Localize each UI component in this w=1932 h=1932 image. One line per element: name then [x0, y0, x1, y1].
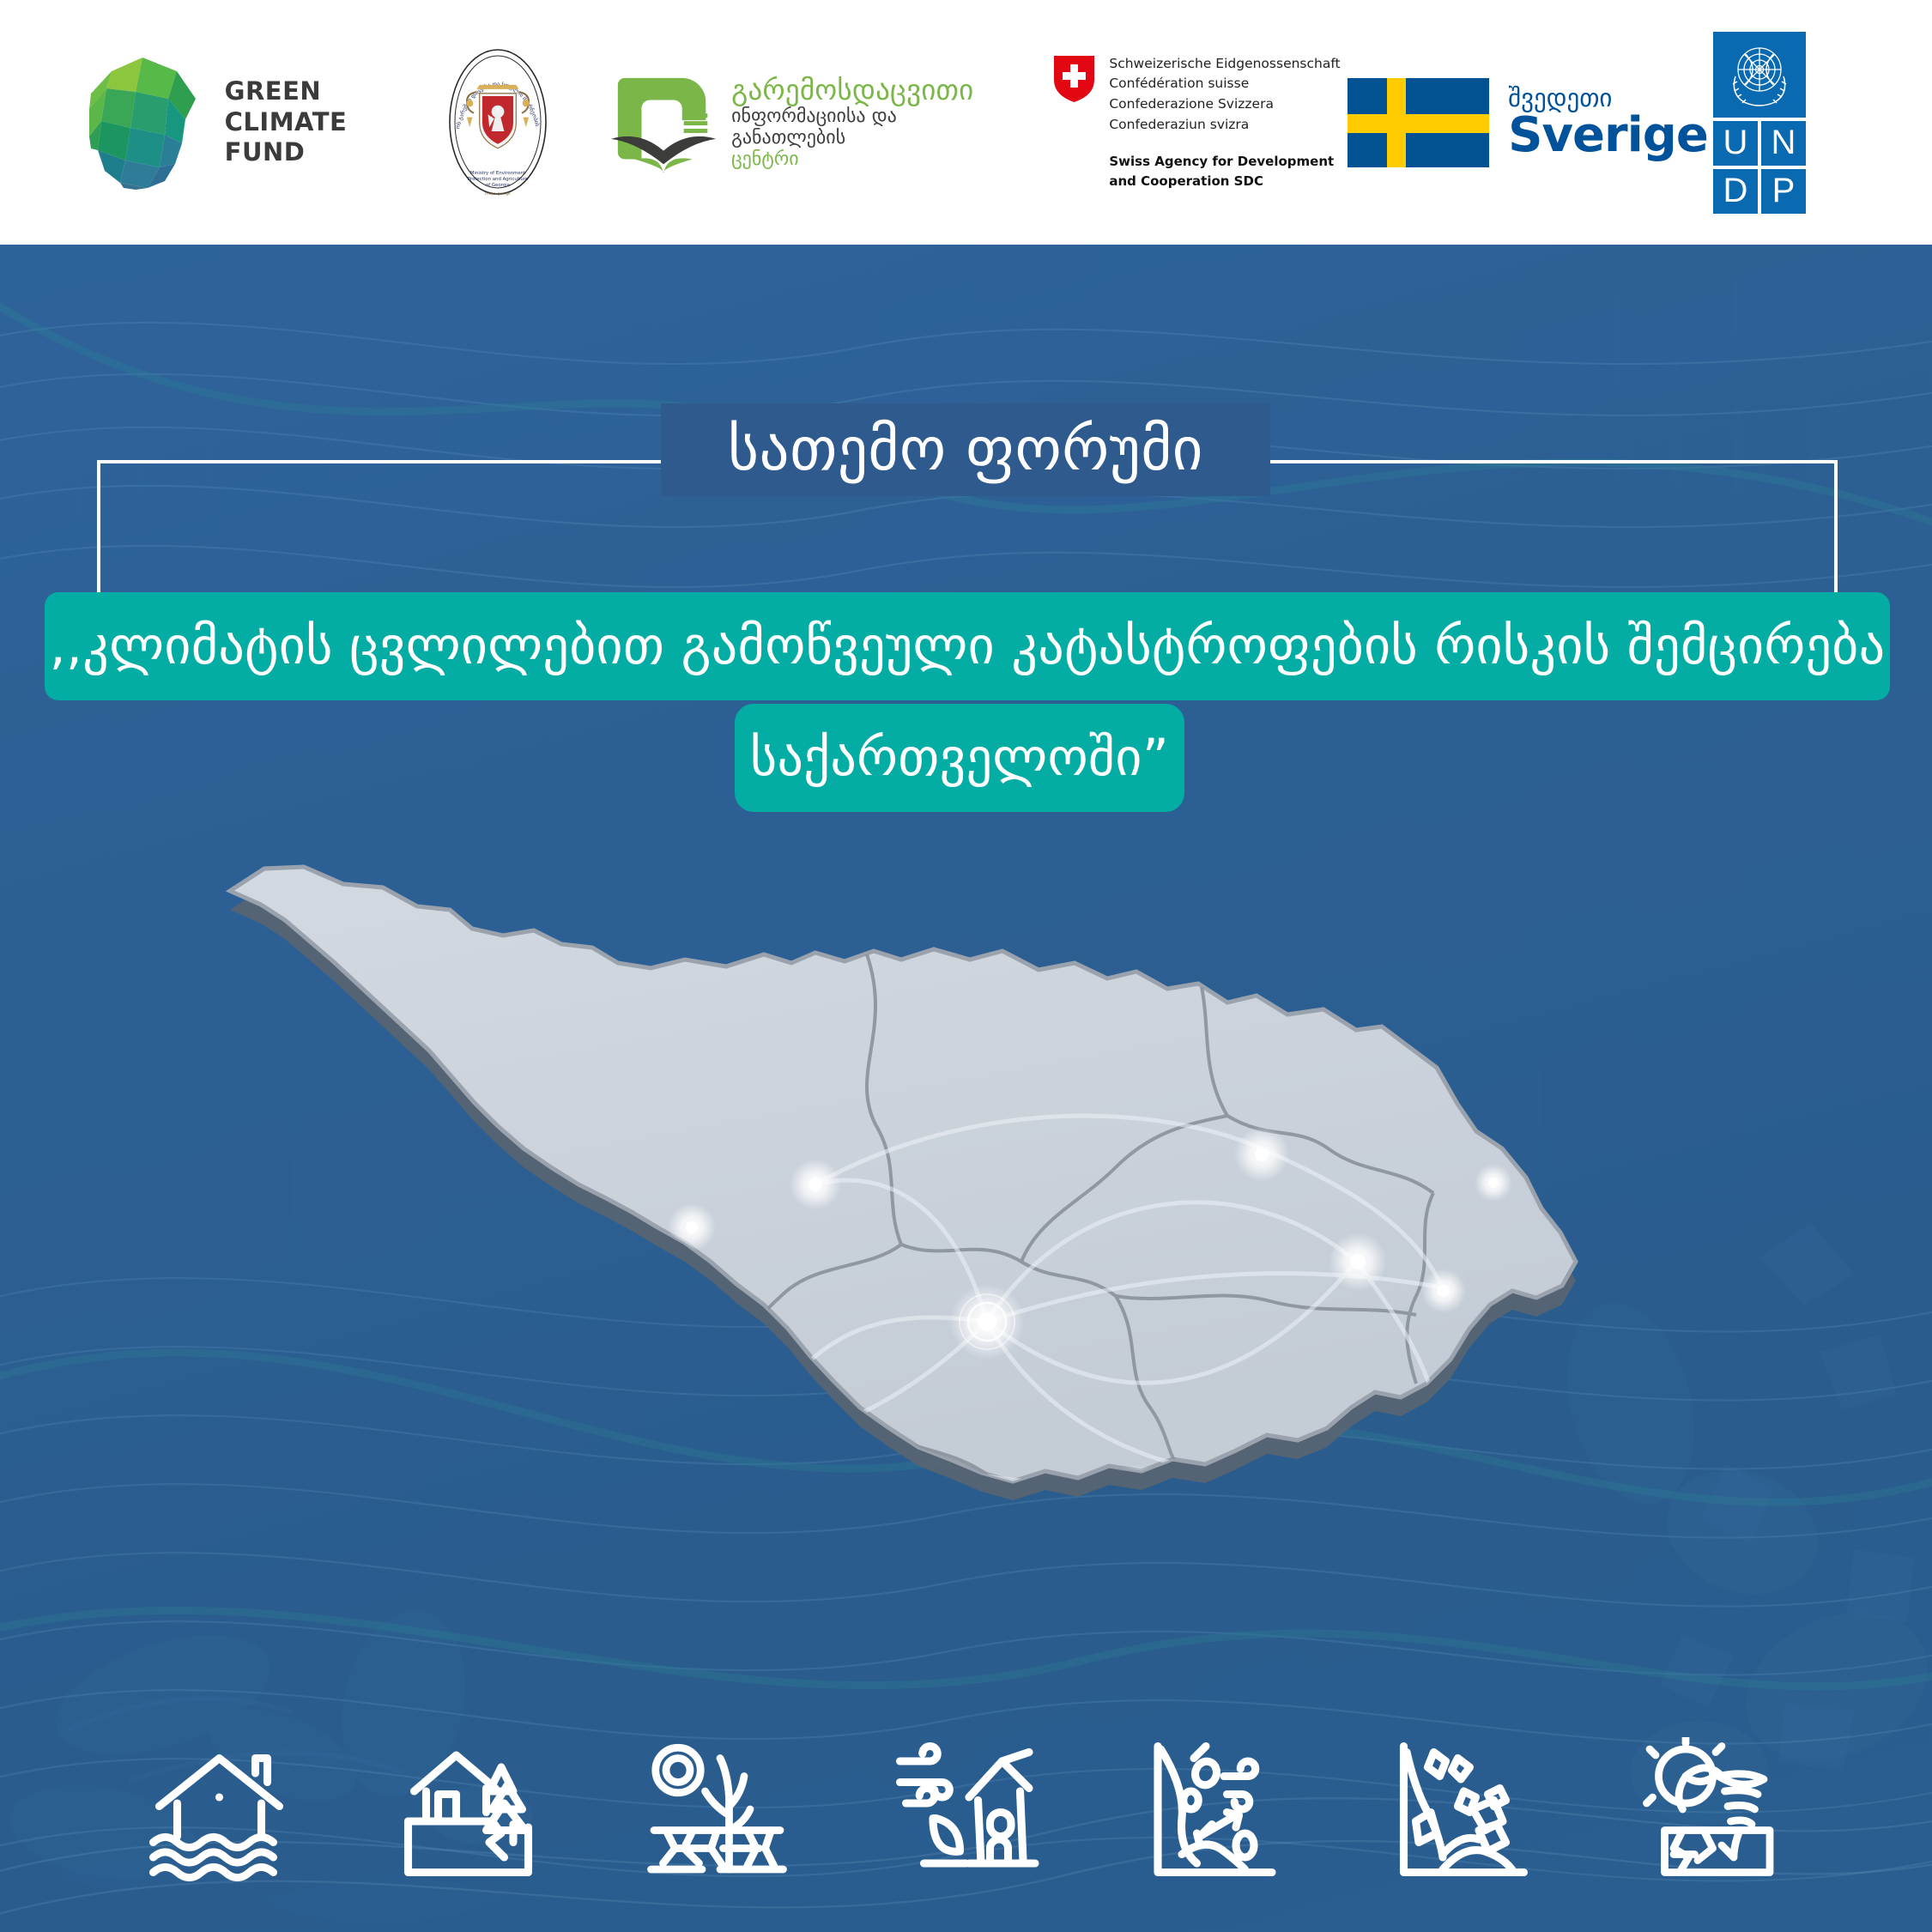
sdc-agency-line-2: and Cooperation SDC [1109, 172, 1340, 191]
georgia-state-seal-icon: საქართველოს გარემოს დაცვისა და სოფლის მე… [425, 47, 571, 197]
logo-sweden: შვედეთი Sverige [1360, 37, 1695, 209]
sdc-agency-line-1: Swiss Agency for Development [1109, 152, 1340, 172]
rockfall-slope-icon [1389, 1737, 1539, 1887]
avalanche-slope-icon [1140, 1737, 1290, 1887]
open-book-leaf-icon [609, 71, 719, 174]
logo-environmental-info-education-centre: გარემოსდაცვითი ინფორმაციისა და განათლები… [609, 37, 1013, 209]
gcf-polyhedron-icon [82, 54, 203, 191]
seal-sub-3: of Georgia [486, 183, 510, 188]
logo-ministry-of-environment: საქართველოს გარემოს დაცვისა და სოფლის მე… [399, 37, 597, 209]
sweden-label-sv: Sverige [1508, 112, 1708, 158]
un-emblem-icon [1713, 32, 1806, 118]
map-node [731, 1401, 779, 1449]
map-node [1234, 1127, 1289, 1182]
logo-undp: U N D P [1704, 37, 1815, 209]
eiec-line-1: გარემოსდაცვითი [731, 76, 1013, 105]
eiec-line-2: ინფორმაციისა და განათლების [731, 106, 1013, 149]
drought-tornado-icon [1638, 1737, 1788, 1887]
map-node [949, 1284, 1025, 1360]
map-node [898, 1524, 939, 1566]
flood-house-icon [144, 1737, 294, 1887]
map-node [790, 1159, 841, 1210]
swedish-flag-icon [1348, 78, 1489, 167]
gcf-wordmark: GREEN CLIMATE FUND [225, 76, 348, 167]
project-title-text-line1: ,,კლიმატის ცვლილებით გამოწვეული კატასტრო… [50, 621, 1886, 672]
undp-letter-n: N [1761, 121, 1806, 166]
map-node [1517, 1543, 1555, 1581]
undp-letter-p: P [1761, 169, 1806, 214]
sdc-line-it: Confederazione Svizzera [1109, 94, 1340, 115]
project-title-banner-line2: საქართველოში” [735, 704, 1184, 812]
project-title-text-line2: საქართველოში” [750, 732, 1169, 784]
georgia-map [215, 858, 1742, 1682]
seal-sub-2: Protection and Agriculture [468, 177, 529, 182]
event-label-text: სათემო ფორუმი [728, 421, 1203, 480]
swiss-cross-shield-icon [1054, 56, 1094, 102]
project-title-banner-line1: ,,კლიმატის ცვლილებით გამოწვეული კატასტრო… [45, 592, 1890, 700]
partner-logo-bar: GREEN CLIMATE FUND საქართველოს გარემოს დ… [0, 0, 1932, 245]
seal-sub-1: Ministry of Environment [470, 171, 525, 176]
map-node [1035, 1490, 1076, 1531]
undp-letter-u: U [1713, 121, 1758, 166]
map-node [1253, 1471, 1298, 1516]
undp-letter-d: D [1713, 169, 1758, 214]
sdc-line-rm: Confederaziun svizra [1109, 115, 1340, 136]
drought-cracked-soil-icon [642, 1737, 792, 1887]
seal-url: mepa.gov.ge [485, 192, 511, 197]
poster-root: GREEN CLIMATE FUND საქართველოს გარემოს დ… [0, 0, 1932, 1932]
landslide-house-icon [393, 1737, 543, 1887]
sdc-line-de: Schweizerische Eidgenossenschaft [1109, 54, 1340, 75]
event-label-chip: სათემო ფორუმი [661, 403, 1270, 496]
windstorm-house-icon [891, 1737, 1041, 1887]
logo-swiss-agency-sdc: Schweizerische Eidgenossenschaft Confédé… [1051, 37, 1343, 209]
map-node [1421, 1269, 1466, 1313]
map-node [1329, 1232, 1387, 1291]
eiec-line-3: ცენტრი [731, 148, 1013, 170]
map-node [1475, 1164, 1512, 1202]
map-node [1174, 1567, 1212, 1605]
sdc-line-fr: Confédération suisse [1109, 74, 1340, 94]
logo-green-climate-fund: GREEN CLIMATE FUND [51, 37, 378, 209]
hazard-icon-row [0, 1726, 1932, 1898]
